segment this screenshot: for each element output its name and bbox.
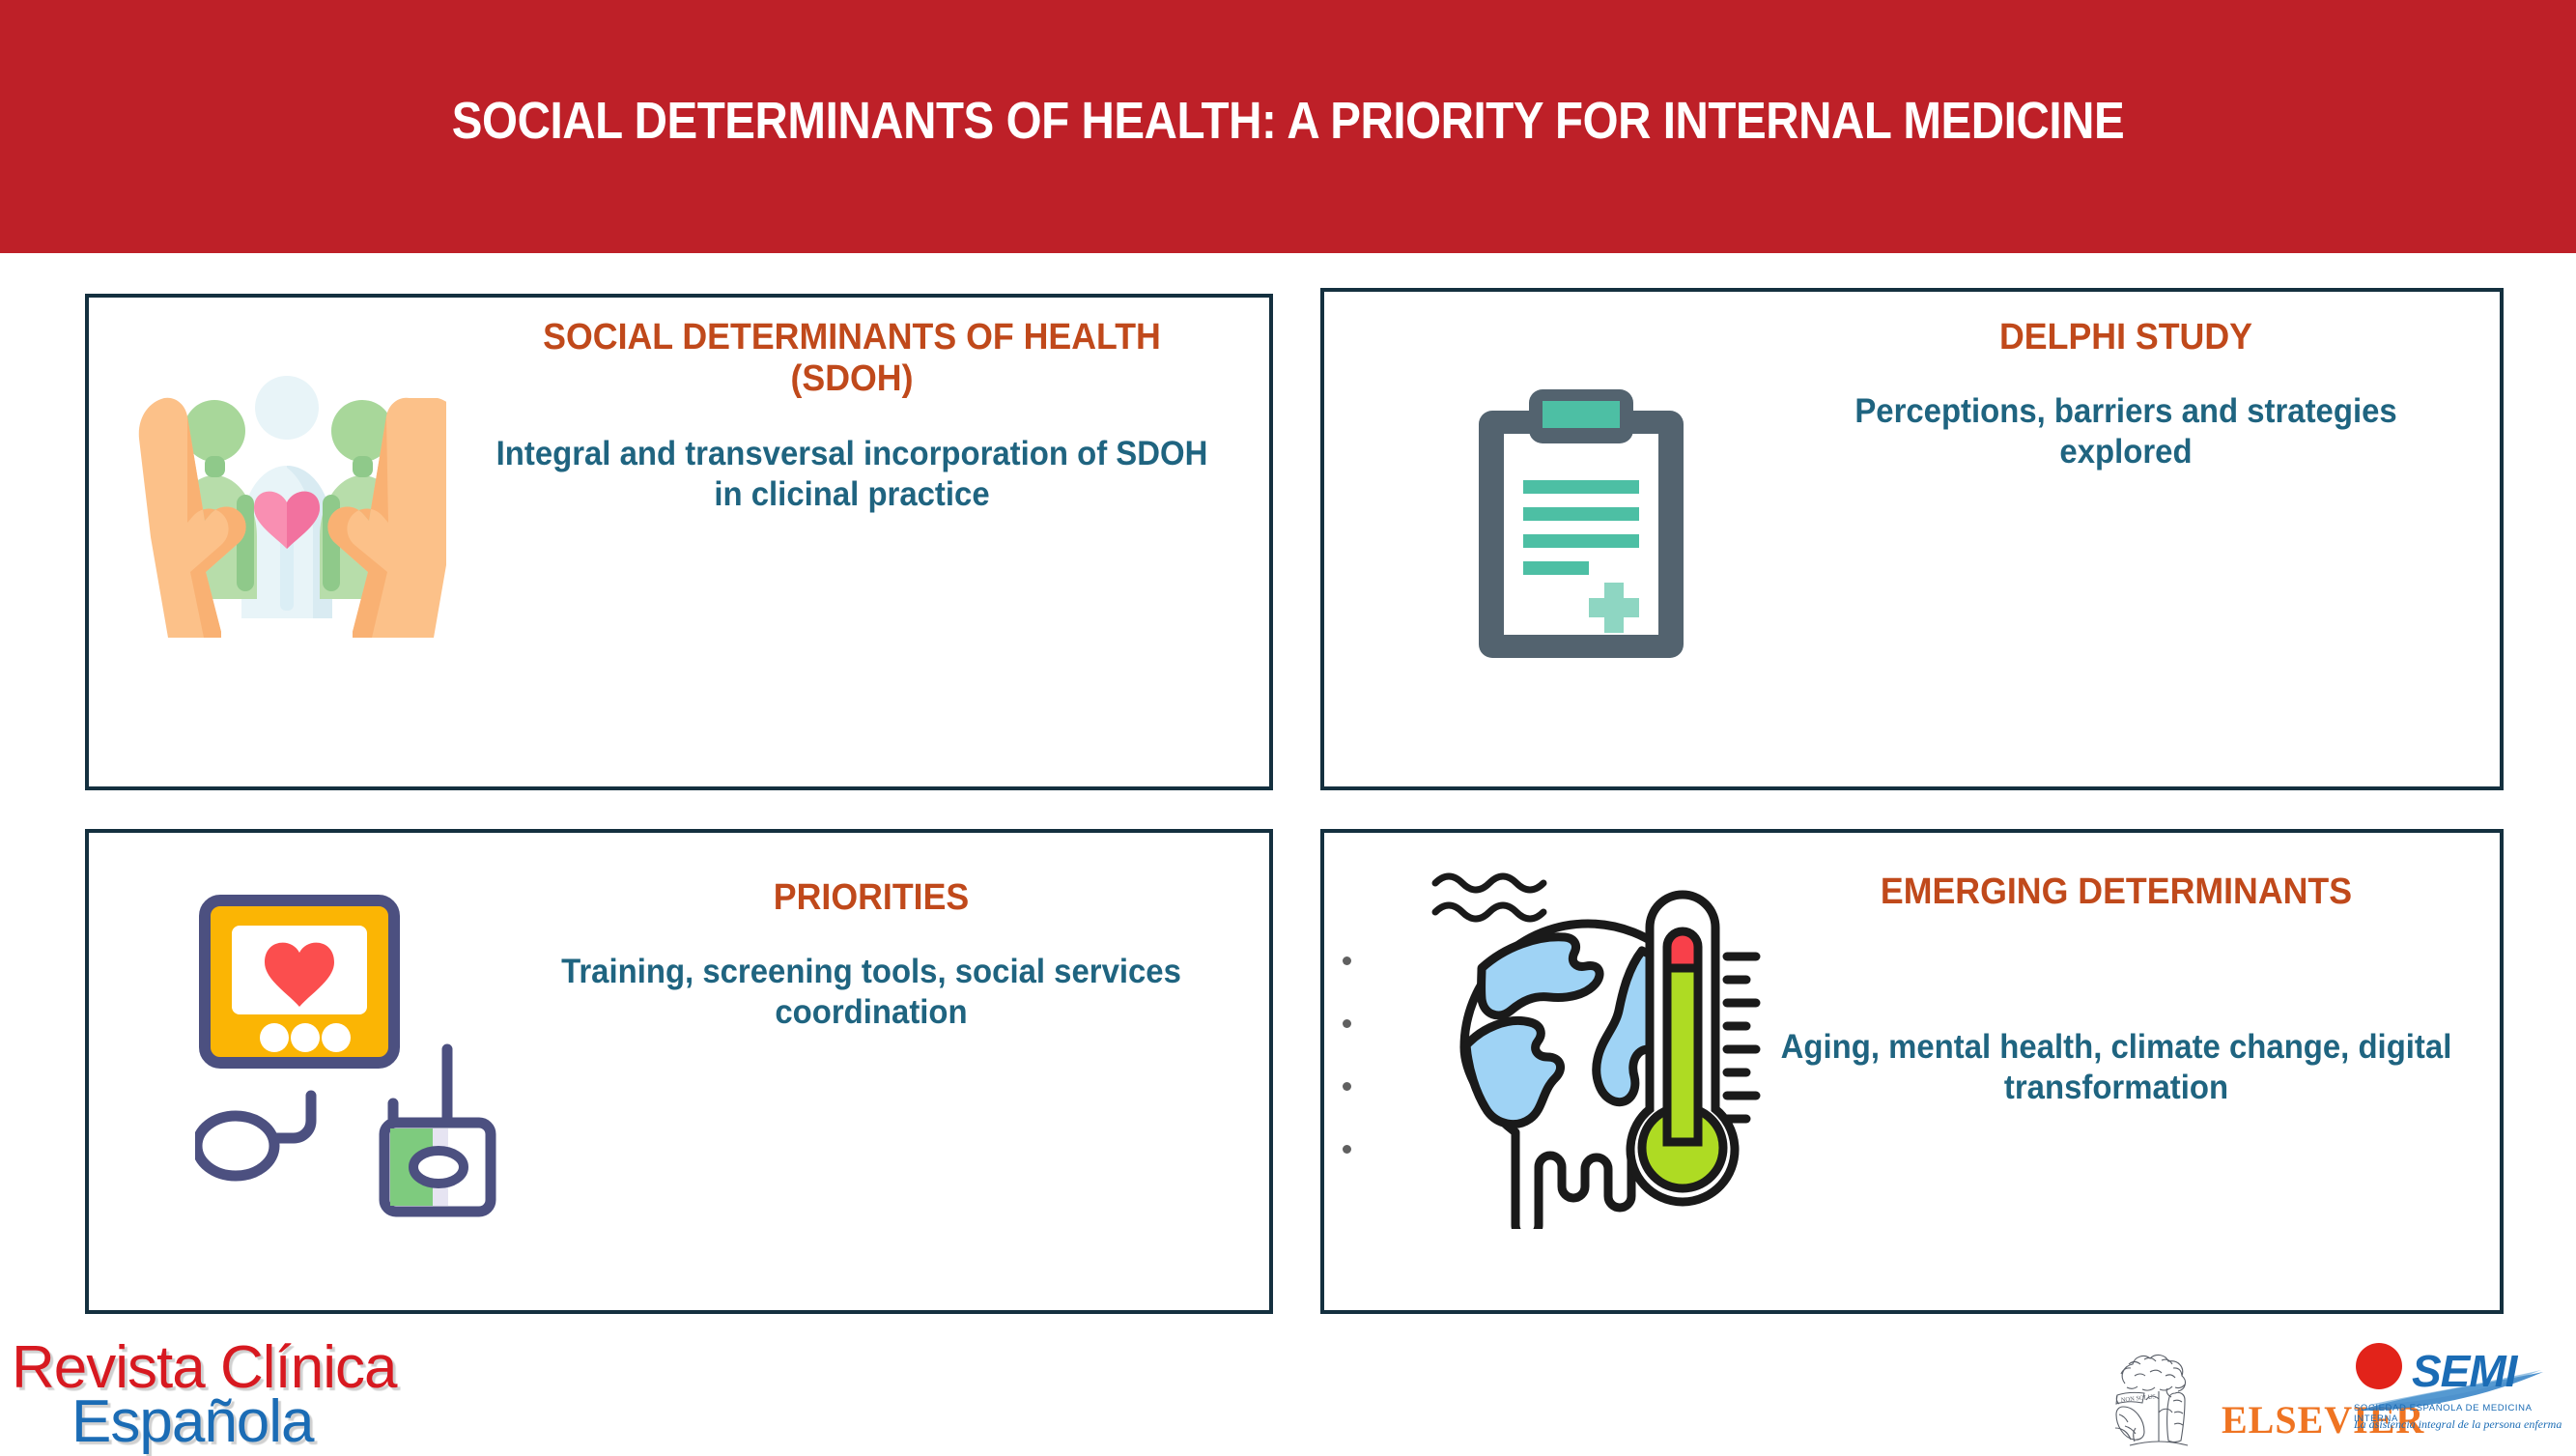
- semi-logo: SEMI SOCIEDAD ESPAÑOLA DE MEDICINA INTER…: [2352, 1341, 2574, 1449]
- semi-red-dot: [2356, 1343, 2402, 1389]
- delphi-text: DELPHI STUDY Perceptions, barriers and s…: [1769, 317, 2483, 472]
- semi-tagline: La asistencia integral de la persona enf…: [2354, 1417, 2572, 1432]
- semi-wordmark: SEMI: [2412, 1345, 2516, 1397]
- panel-body-priorities: Training, screening tools, social servic…: [535, 952, 1207, 1033]
- panel-emerging: EMERGING DETERMINANTS Aging, mental heal…: [1320, 829, 2504, 1314]
- revista-clinica-espanola-logo: Revista Clínica Española: [8, 1333, 423, 1447]
- panel-heading-delphi: DELPHI STUDY: [1790, 317, 2462, 358]
- priorities-text: PRIORITIES Training, screening tools, so…: [514, 877, 1229, 1033]
- ghost-bullet-artifacts: [1343, 956, 1366, 1208]
- panel-body-emerging: Aging, mental health, climate change, di…: [1771, 1027, 2461, 1108]
- clipboard-medical-icon: [1469, 384, 1711, 673]
- journal-name-line2: Española: [71, 1387, 314, 1456]
- panel-delphi: DELPHI STUDY Perceptions, barriers and s…: [1320, 288, 2504, 790]
- elsevier-tree-icon: NON SOLUS: [2106, 1351, 2217, 1447]
- panel-heading-sdoh: SOCIAL DETERMINANTS OF HEALTH (SDOH): [489, 317, 1215, 401]
- page-title: SOCIAL DETERMINANTS OF HEALTH: A PRIORIT…: [155, 91, 2421, 151]
- hands-holding-people-heart-icon: [127, 348, 446, 667]
- panel-heading-emerging: EMERGING DETERMINANTS: [1771, 871, 2461, 913]
- elsevier-logo: NON SOLUS ELSEVIER: [2106, 1351, 2357, 1447]
- panel-body-sdoh: Integral and transversal incorporation o…: [489, 434, 1215, 515]
- panel-sdoh: SOCIAL DETERMINANTS OF HEALTH (SDOH) Int…: [85, 294, 1273, 790]
- panel-priorities: PRIORITIES Training, screening tools, so…: [85, 829, 1273, 1314]
- header-banner: SOCIAL DETERMINANTS OF HEALTH: A PRIORIT…: [0, 0, 2576, 253]
- panel-heading-priorities: PRIORITIES: [535, 877, 1207, 919]
- emerging-text: EMERGING DETERMINANTS Aging, mental heal…: [1749, 871, 2483, 1108]
- melting-globe-thermometer-icon: [1406, 842, 1773, 1229]
- sdoh-text: SOCIAL DETERMINANTS OF HEALTH (SDOH) Int…: [466, 317, 1238, 515]
- blood-pressure-monitor-icon: [195, 893, 524, 1221]
- panel-body-delphi: Perceptions, barriers and strategies exp…: [1790, 391, 2462, 472]
